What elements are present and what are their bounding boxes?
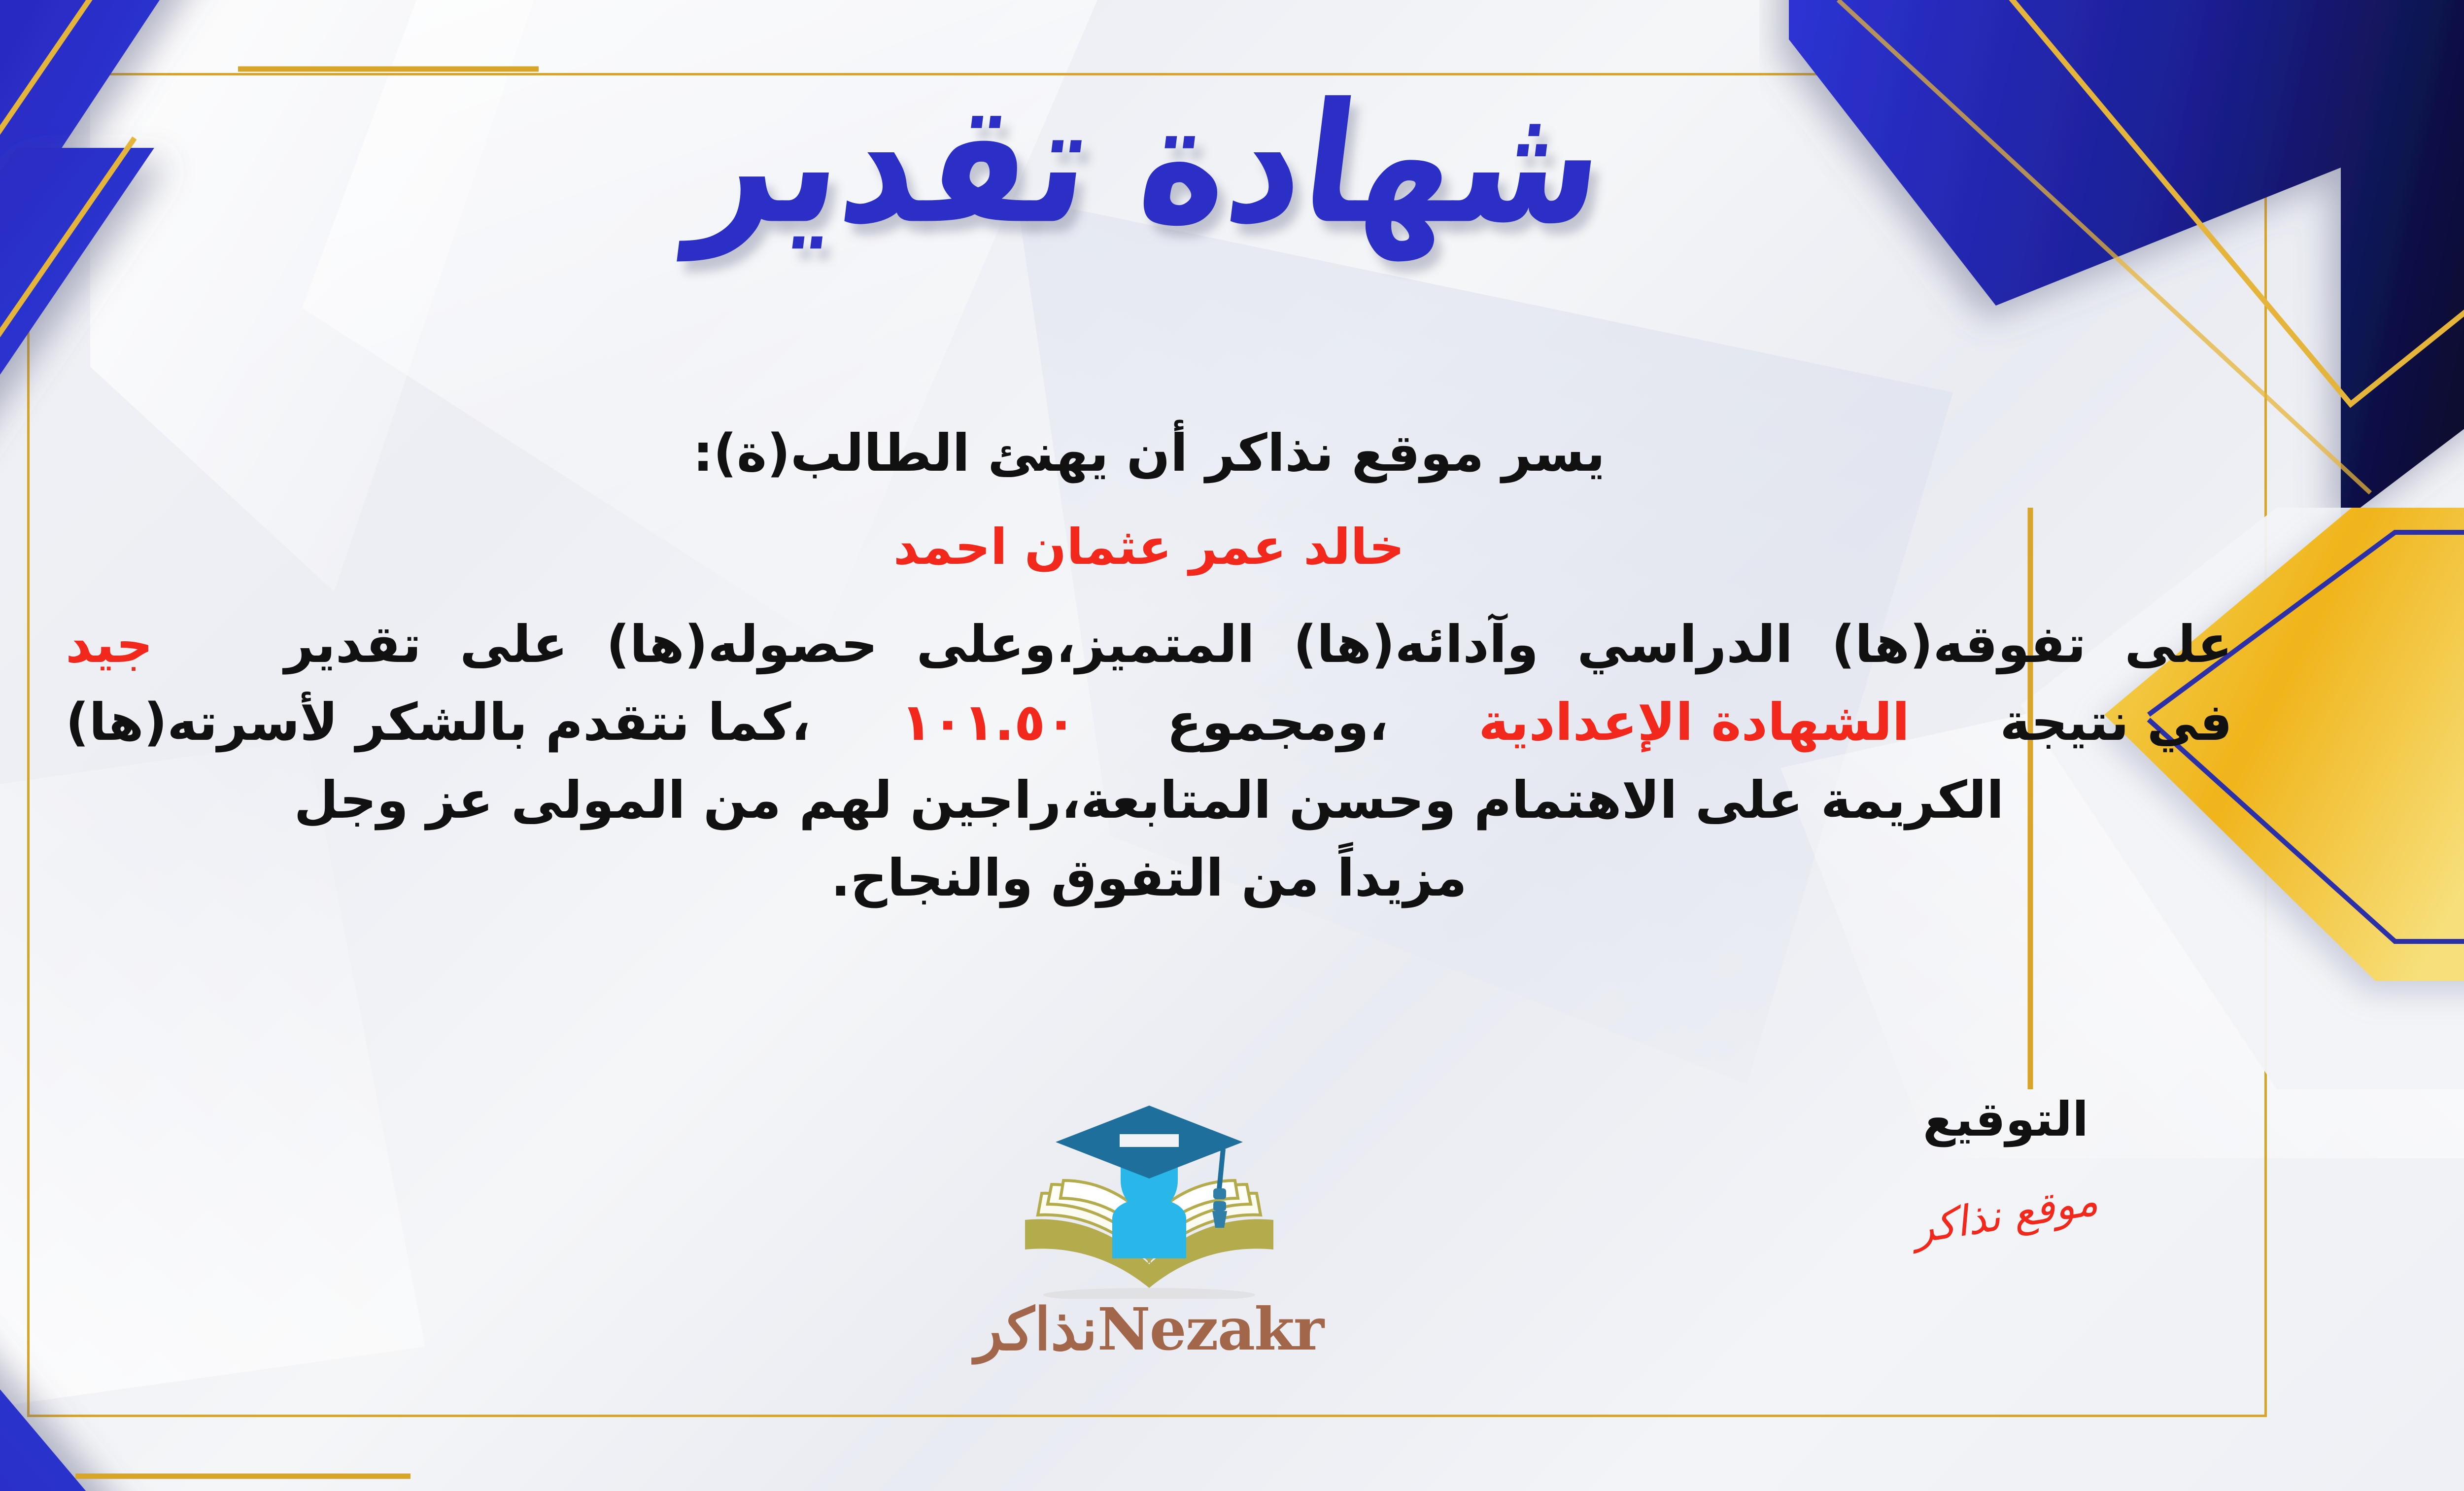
brand-logo: Nezakrنذاكر	[957, 1102, 1341, 1363]
intro-line: يسر موقع نذاكر أن يهنئ الطالب(ة):	[66, 414, 2232, 492]
certificate-page: شهادة تقدير يسر موقع نذاكر أن يهنئ الطال…	[0, 0, 2464, 1491]
achievement-text: على تفوقه(ها) الدراسي وآدائه(ها) المتميز…	[284, 614, 2232, 674]
exam-result-line: في نتيجة الشهادة الإعدادية ،ومجموع ١٠١.٥…	[66, 683, 2232, 761]
signature-script: موقع نذاكر	[1910, 1176, 2101, 1253]
achievement-line: على تفوقه(ها) الدراسي وآدائه(ها) المتميز…	[66, 605, 2232, 683]
page-title: شهادة تقدير	[684, 77, 1614, 251]
wishes-line: مزيداً من التفوق والنجاح.	[66, 839, 2232, 917]
certificate-title-area: شهادة تقدير	[0, 86, 2464, 242]
signature-block: التوقيع موقع نذاكر	[1759, 1092, 2252, 1239]
total-score: ١٠١.٥٠	[901, 692, 1077, 752]
graduate-book-logo-icon	[996, 1102, 1302, 1299]
thanks-line: الكريمة على الاهتمام وحسن المتابعة،راجين…	[66, 761, 2232, 839]
thanks-prefix: ،كما نتقدم بالشكر لأسرته(ها)	[66, 692, 811, 752]
grade-value: جيد	[66, 614, 153, 674]
total-label: ،ومجموع	[1167, 692, 1388, 752]
signature-label: التوقيع	[1759, 1092, 2252, 1147]
student-name: خالد عمر عثمان احمد	[66, 510, 2232, 585]
exam-name: الشهادة الإعدادية	[1478, 692, 1910, 752]
brand-name: Nezakrنذاكر	[957, 1295, 1341, 1363]
result-prefix: في نتيجة	[2000, 692, 2232, 752]
certificate-body: يسر موقع نذاكر أن يهنئ الطالب(ة): خالد ع…	[66, 414, 2232, 917]
certificate-footer: التوقيع موقع نذاكر	[46, 1092, 2252, 1407]
